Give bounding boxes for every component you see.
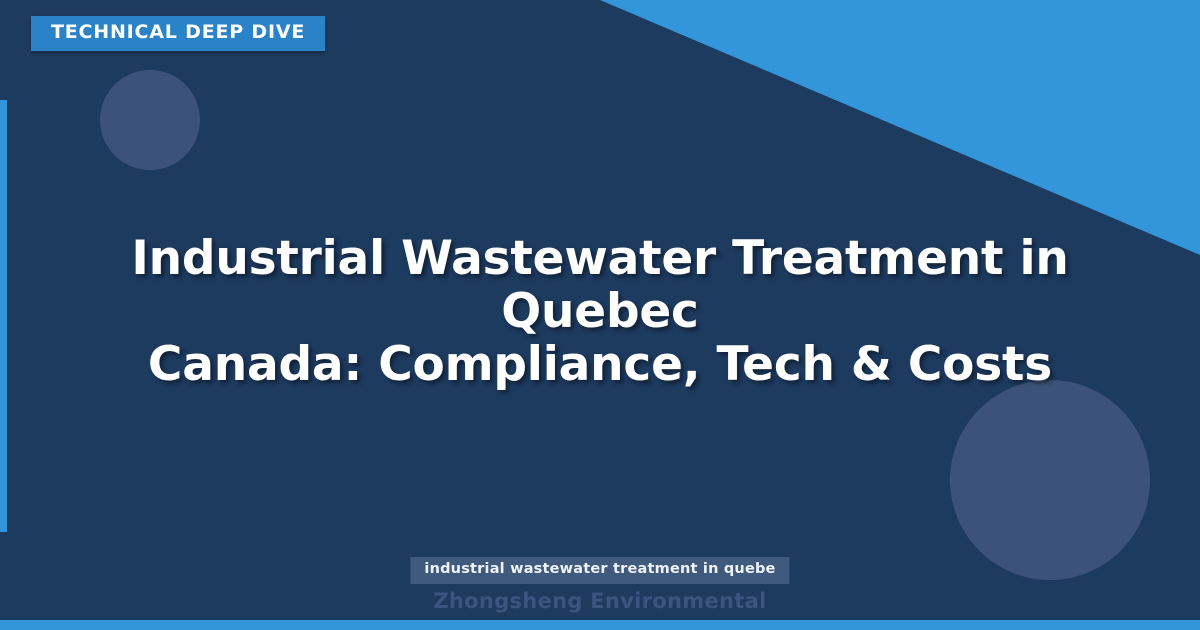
social-card: TECHNICAL DEEP DIVE Industrial Wastewate…	[0, 0, 1200, 630]
bottom-accent-bar	[0, 620, 1200, 630]
page-title-line-2: Canada: Compliance, Tech & Costs	[40, 338, 1160, 391]
category-badge: TECHNICAL DEEP DIVE	[31, 16, 325, 51]
brand-name: Zhongsheng Environmental	[0, 591, 1200, 612]
keyword-tag: industrial wastewater treatment in quebe	[410, 557, 789, 584]
decorative-circle-top-left	[100, 70, 200, 170]
page-title: Industrial Wastewater Treatment in Quebe…	[0, 232, 1200, 391]
decorative-circle-bottom-right	[950, 380, 1150, 580]
page-title-line-1: Industrial Wastewater Treatment in Quebe…	[40, 232, 1160, 338]
